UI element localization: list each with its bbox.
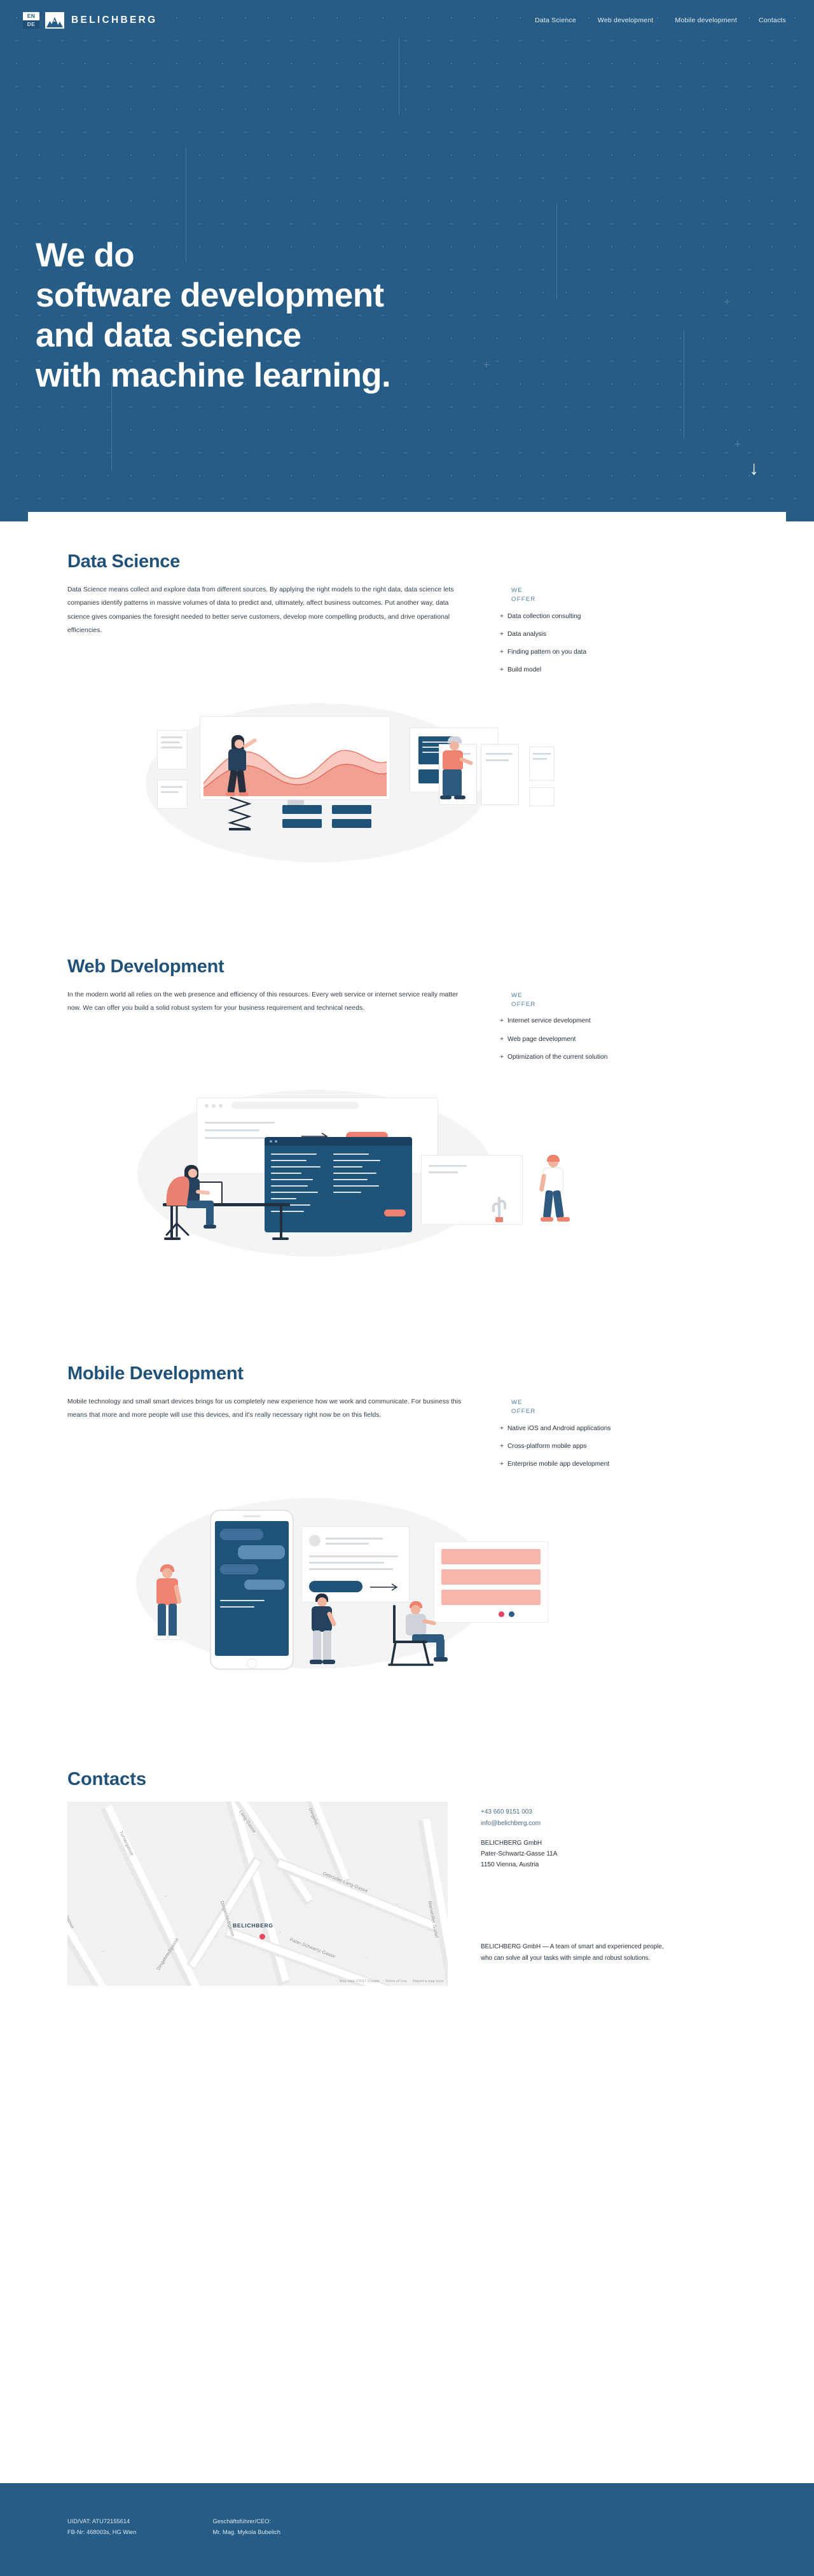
map-direction-arrow-icon: ← [214,1934,218,1938]
illus-person-legs [443,769,462,796]
illus-line [161,736,183,738]
illus-line [533,753,551,755]
map-attribution-data: Map data ©2017 Google [340,1980,380,1983]
offer-item-label: Build model [507,667,541,673]
map-pin-icon[interactable] [259,1934,265,1939]
offer-item-label: Optimization of the current solution [507,1054,607,1061]
nav-item-mobile-development[interactable]: Mobile development [675,17,737,24]
illus-person-torso [228,749,246,771]
plus-icon: + [500,614,504,620]
illus-line [161,741,180,743]
map-attribution-report[interactable]: Report a map error [413,1980,444,1983]
illus-line [161,747,183,748]
illus-line [422,741,450,743]
illus-card-dark [332,805,371,814]
decor-plus: + [483,359,490,370]
illustration-mobile-development [28,1485,786,1689]
illus-person-torso [543,1167,563,1192]
illus-person-legs [313,1630,321,1661]
offer-item: +Web page development [500,1037,703,1054]
illus-line [271,1198,296,1199]
illus-person-hair [547,1155,560,1162]
hero-section: + + + + EN DE BELICHBERG Data Science We… [0,0,814,521]
language-option-en[interactable]: EN [23,12,39,20]
offer-label-line-2: OFFER [511,1001,536,1008]
illus-line [486,753,513,755]
offer-item: +Data analysis [500,631,703,649]
illus-line [271,1211,304,1212]
offer-item: +Data collection consulting [500,614,703,631]
offer-item: +Cross-platform mobile apps [500,1443,703,1461]
hero-heading-line-2: software development [36,275,390,315]
section-title-contacts: Contacts [67,1769,747,1790]
offer-item-label: Data analysis [507,631,546,638]
mountain-icon [45,12,64,29]
illus-line [205,1122,275,1124]
contact-street: Pater-Schwartz-Gasse 11A [481,1849,691,1859]
contact-details: +43 660 9151 003 info@belichberg.com BEL… [481,1801,691,1964]
illus-document [157,730,188,769]
illus-browser-dot [212,1104,216,1108]
plus-icon: + [500,1018,504,1024]
offer-item: +Enterprise mobile app development [500,1461,703,1479]
illus-stand [287,800,304,805]
map-direction-arrow-icon: → [365,1955,369,1960]
illus-line [271,1160,307,1161]
illus-shoe [557,1217,570,1222]
illus-shoe [203,1225,216,1229]
company-about-text: BELICHBERG GmbH — A team of smart and ex… [481,1941,672,1964]
offer-item-label: Finding pattern on you data [507,649,586,656]
offer-block-mobile-development: WE OFFER +Native iOS and Android applica… [500,1395,703,1479]
offer-item: +Native iOS and Android applications [500,1426,703,1443]
page-footer: UID/VAT: ATU72155614 FB-Nr: 468003s, HG … [0,2483,814,2576]
illus-spring [228,796,252,832]
offer-label: WE OFFER [500,991,703,1009]
contact-company: BELICHBERG GmbH [481,1838,691,1849]
decor-plus: + [735,439,741,450]
section-copy-mobile-development: Mobile technology and small smart device… [67,1395,468,1422]
offer-label: WE OFFER [500,586,703,604]
illus-shoe [168,1636,181,1640]
section-data-science: Data Science Data Science means collect … [28,512,786,862]
contact-phone[interactable]: +43 660 9151 003 [481,1807,691,1817]
offer-item-label: Enterprise mobile app development [507,1461,609,1468]
illus-browser-dot [219,1104,223,1108]
illus-chair [162,1174,200,1243]
footer-ceo-name: Mr. Mag. Mykola Bubelich [213,2527,280,2538]
offer-item: +Internet service development [500,1018,703,1036]
illus-shoe [454,796,466,799]
illus-chat-bubble [244,1580,285,1590]
illus-line [429,1171,458,1173]
brand-logo[interactable]: EN DE BELICHBERG [23,12,157,29]
illus-person-face [450,741,459,750]
illus-card-pink [441,1549,541,1564]
offer-list-data-science: +Data collection consulting +Data analys… [500,614,703,685]
illus-document [529,787,555,806]
hero-heading: We do software development and data scie… [36,235,390,396]
section-copy-web-development: In the modern world all relies on the we… [67,988,468,1016]
decor-vline [399,38,399,114]
illus-shoe [310,1660,322,1664]
illus-line [333,1173,376,1174]
section-contacts: Contacts [28,1689,786,2043]
illus-person-legs [553,1190,564,1218]
illus-person-legs [158,1604,166,1637]
map-direction-arrow-icon: ← [396,1902,400,1906]
plus-icon: + [500,1443,504,1450]
offer-item: +Finding pattern on you data [500,649,703,667]
illus-line [486,759,509,761]
illus-document [529,747,555,781]
footer-register-number: FB-Nr: 468003s, HG Wien [67,2527,137,2538]
offer-item-label: Cross-platform mobile apps [507,1443,587,1450]
offer-block-web-development: WE OFFER +Internet service development +… [500,988,703,1072]
illus-line [333,1160,380,1161]
plus-icon: + [500,631,504,638]
offer-label-line-2: OFFER [511,1408,536,1415]
illus-shoe [322,1660,335,1664]
section-title-web-development: Web Development [67,956,747,977]
illus-line [429,1165,467,1167]
footer-vat: UID/VAT: ATU72155614 [67,2516,137,2527]
offer-block-data-science: WE OFFER +Data collection consulting +Da… [500,583,703,685]
illus-chair [388,1605,435,1669]
map-direction-arrow-icon: ← [100,1949,105,1953]
illus-card-dark [282,805,322,814]
plus-icon: + [500,1037,504,1043]
nav-item-web-development[interactable]: Web development [598,17,653,24]
main-nav: Data Science Web development Mobile deve… [535,17,786,24]
illus-shoe [434,1657,448,1662]
map-road [224,1927,425,1986]
illustration-data-science [28,678,786,862]
language-option-de[interactable]: DE [23,20,39,29]
contact-address: BELICHBERG GmbH Pater-Schwartz-Gasse 11A… [481,1838,691,1871]
section-web-development: Web Development In the modern world all … [28,862,786,1269]
illus-line [333,1154,369,1155]
section-title-mobile-development: Mobile Development [67,1363,747,1384]
illus-desk-foot [272,1237,289,1240]
illus-line [333,1179,368,1180]
illus-editor-bar [265,1137,412,1146]
illus-button [309,1581,362,1592]
illus-line [205,1129,259,1131]
brand-name: BELICHBERG [71,15,157,26]
map-direction-arrow-icon: → [277,1930,282,1934]
footer-ceo-label: Geschäftsführer/CEO: [213,2516,280,2527]
contact-city: 1150 Vienna, Austria [481,1859,691,1870]
map-marker-label: BELICHBERG [233,1922,273,1929]
section-copy-data-science: Data Science means collect and explore d… [67,583,468,638]
arrow-down-icon[interactable]: ↓ [749,459,759,478]
illus-person-legs [543,1190,554,1219]
illus-person-face [235,740,244,748]
illus-line [271,1166,321,1167]
illus-chat-bubble [220,1564,258,1574]
hero-heading-line-4: with machine learning. [36,355,390,396]
illus-line [271,1154,317,1155]
illus-person-legs [206,1203,214,1226]
illus-button [384,1209,406,1216]
plus-icon: + [500,1461,504,1468]
offer-label-line-1: WE [511,1399,523,1406]
illus-line [333,1185,379,1187]
illus-line [533,758,547,760]
illus-person-legs [323,1630,331,1661]
plus-icon: + [500,1054,504,1061]
illus-shoe [541,1217,553,1222]
offer-item: +Optimization of the current solution [500,1054,703,1072]
illus-shoe [440,796,452,799]
map-attribution: Map data ©2017 Google Terms of Use Repor… [340,1980,444,1983]
offer-list-web-development: +Internet service development +Web page … [500,1018,703,1072]
map-widget[interactable]: Turnergasse Talgasse Dingelstedtgasse Ge… [67,1801,448,1986]
illus-card-pink [441,1590,541,1605]
illus-browser-dot [205,1104,209,1108]
map-road [67,1899,132,1987]
illus-chat-bubble [220,1529,263,1540]
top-navigation-bar: EN DE BELICHBERG Data Science Web develo… [0,0,814,41]
illus-line [333,1192,361,1193]
content-sheet: Data Science Data Science means collect … [28,512,786,2483]
footer-legal-column: UID/VAT: ATU72155614 FB-Nr: 468003s, HG … [67,2516,137,2537]
illus-line [161,786,183,788]
plus-icon: + [500,667,504,673]
offer-label-line-1: WE [511,992,523,999]
hero-heading-line-3: and data science [36,315,390,355]
illus-cactus-icon [490,1185,509,1222]
illustration-web-development [28,1078,786,1269]
contact-email[interactable]: info@belichberg.com [481,1818,691,1829]
section-mobile-development: Mobile Development Mobile technology and… [28,1269,786,1689]
offer-label: WE OFFER [500,1398,703,1416]
illus-card-dark [332,819,371,828]
map-attribution-terms[interactable]: Terms of Use [385,1980,407,1983]
decor-vline [556,203,557,299]
nav-item-data-science[interactable]: Data Science [535,17,576,24]
language-switcher[interactable]: EN DE [23,12,39,29]
offer-label-line-2: OFFER [511,596,536,603]
map-direction-arrow-icon: ← [164,1894,169,1898]
offer-label-line-1: WE [511,587,523,594]
illus-line [333,1166,362,1167]
offer-item-label: Internet service development [507,1018,591,1024]
illus-person-legs [436,1638,445,1658]
offer-list-mobile-development: +Native iOS and Android applications +Cr… [500,1426,703,1480]
nav-item-contacts[interactable]: Contacts [759,17,786,24]
illus-line [161,791,179,793]
footer-ceo-column: Geschäftsführer/CEO: Mr. Mag. Mykola Bub… [213,2516,280,2537]
plus-icon: + [500,1426,504,1432]
illus-shoe [155,1636,168,1640]
offer-item-label: Native iOS and Android applications [507,1426,611,1432]
illus-line [271,1185,308,1187]
offer-item-label: Data collection consulting [507,614,581,620]
illus-code-editor [265,1137,412,1232]
illus-person-legs [169,1604,177,1637]
illus-url-bar [231,1102,359,1109]
decor-vline [684,331,684,439]
offer-item-label: Web page development [507,1037,576,1043]
illus-arrow-icon [370,1583,401,1591]
illus-card-pink [441,1569,541,1585]
plus-icon: + [500,649,504,656]
illus-line [271,1179,313,1180]
illus-document [157,780,188,809]
section-title-data-science: Data Science [67,551,747,572]
hero-heading-line-1: We do [36,235,390,275]
illus-card-dark [282,819,322,828]
illus-line [271,1192,318,1193]
illus-line [271,1173,301,1174]
illus-chat-bubble [238,1545,285,1559]
illus-desk-leg [280,1206,282,1239]
decor-plus: + [724,296,730,307]
